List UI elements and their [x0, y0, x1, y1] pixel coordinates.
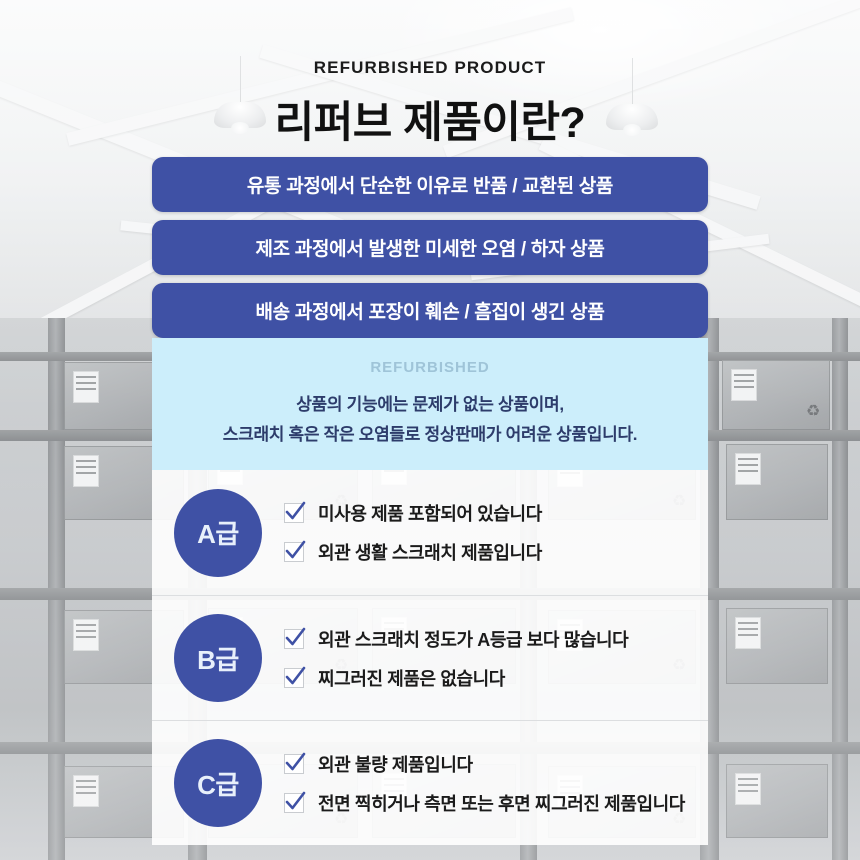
list-item: 전면 찍히거나 측면 또는 후면 찌그러진 제품입니다 [284, 790, 685, 816]
check-icon [284, 542, 304, 562]
definition-bar: 제조 과정에서 발생한 미세한 오염 / 하자 상품 [152, 220, 708, 275]
check-icon [284, 629, 304, 649]
list-item-label: 전면 찍히거나 측면 또는 후면 찌그러진 제품입니다 [318, 790, 685, 816]
refurbished-note-box: REFURBISHED 상품의 기능에는 문제가 없는 상품이며, 스크래치 혹… [152, 338, 708, 470]
grade-row-c: C급 외관 불량 제품입니다 전면 찍히거나 측면 또는 후면 찌그러진 제품입… [152, 720, 708, 845]
grade-badge-a: A급 [174, 489, 262, 577]
grade-row-b: B급 외관 스크래치 정도가 A등급 보다 많습니다 찌그러진 제품은 없습니다 [152, 595, 708, 720]
grade-items-c: 외관 불량 제품입니다 전면 찍히거나 측면 또는 후면 찌그러진 제품입니다 [284, 751, 685, 816]
definition-bars-list: 유통 과정에서 단순한 이유로 반품 / 교환된 상품 제조 과정에서 발생한 … [152, 157, 708, 346]
grade-items-b: 외관 스크래치 정도가 A등급 보다 많습니다 찌그러진 제품은 없습니다 [284, 626, 628, 691]
refurbished-note-line-2: 스크래치 혹은 작은 오염들로 정상판매가 어려운 상품입니다. [223, 420, 637, 449]
list-item-label: 외관 불량 제품입니다 [318, 751, 473, 777]
grade-card: A급 미사용 제품 포함되어 있습니다 외관 생활 스크래치 제품입니다 B급 [152, 470, 708, 845]
grade-badge-b: B급 [174, 614, 262, 702]
grade-row-a: A급 미사용 제품 포함되어 있습니다 외관 생활 스크래치 제품입니다 [152, 470, 708, 595]
list-item: 외관 생활 스크래치 제품입니다 [284, 539, 542, 565]
list-item-label: 외관 스크래치 정도가 A등급 보다 많습니다 [318, 626, 628, 652]
refurbished-note-title: REFURBISHED [370, 359, 489, 376]
check-icon [284, 793, 304, 813]
page-title: 리퍼브 제품이란? [0, 88, 860, 150]
check-icon [284, 503, 304, 523]
grade-items-a: 미사용 제품 포함되어 있습니다 외관 생활 스크래치 제품입니다 [284, 500, 542, 565]
check-icon [284, 754, 304, 774]
definition-bar: 유통 과정에서 단순한 이유로 반품 / 교환된 상품 [152, 157, 708, 212]
infographic-page: ♻ ♻ ♻ ♻ ♻ ♻ ♻ ♻ ♻ REFURBISHED PRODUCT 리퍼… [0, 0, 860, 860]
list-item: 외관 불량 제품입니다 [284, 751, 685, 777]
grade-badge-c: C급 [174, 739, 262, 827]
list-item-label: 미사용 제품 포함되어 있습니다 [318, 500, 542, 526]
definition-bar: 배송 과정에서 포장이 훼손 / 흠집이 생긴 상품 [152, 283, 708, 338]
list-item: 외관 스크래치 정도가 A등급 보다 많습니다 [284, 626, 628, 652]
check-icon [284, 668, 304, 688]
refurbished-note-line-1: 상품의 기능에는 문제가 없는 상품이며, [296, 390, 564, 419]
list-item-label: 외관 생활 스크래치 제품입니다 [318, 539, 542, 565]
eyebrow-text: REFURBISHED PRODUCT [0, 58, 860, 78]
list-item-label: 찌그러진 제품은 없습니다 [318, 665, 505, 691]
list-item: 미사용 제품 포함되어 있습니다 [284, 500, 542, 526]
list-item: 찌그러진 제품은 없습니다 [284, 665, 628, 691]
